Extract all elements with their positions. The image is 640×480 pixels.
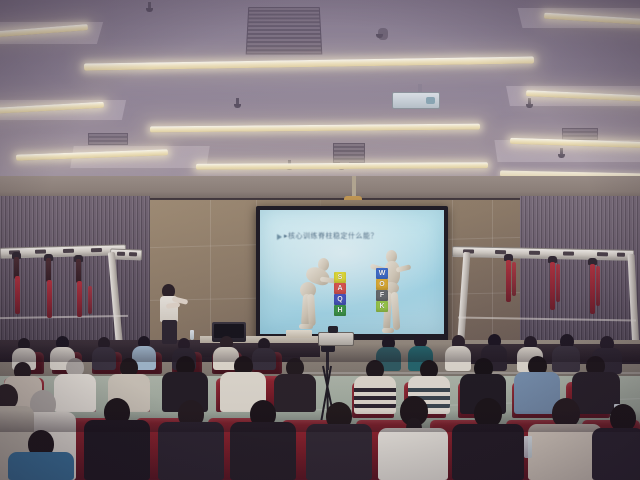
person-body bbox=[378, 428, 448, 480]
rig-slot bbox=[117, 252, 125, 256]
water-bottle bbox=[190, 330, 194, 340]
photo-scene: ▸核心训练脊柱稳定什么能？ S A Q H W bbox=[0, 0, 640, 480]
suspension-strap bbox=[47, 280, 52, 318]
suspension-strap bbox=[77, 281, 82, 317]
ceiling-projector bbox=[392, 92, 440, 109]
sprinkler-head bbox=[528, 98, 531, 106]
figure-leg bbox=[307, 294, 316, 326]
figure-leg bbox=[391, 292, 401, 330]
depth-shadow bbox=[0, 344, 640, 362]
rig-slot bbox=[63, 249, 74, 253]
presenter-legs bbox=[162, 320, 177, 344]
slide-cube: W bbox=[376, 268, 388, 279]
ceiling-vent bbox=[246, 7, 323, 54]
person-stripes bbox=[354, 384, 396, 410]
wall-panel-seam bbox=[492, 200, 493, 350]
rig-slot bbox=[597, 252, 608, 256]
suspension-strap bbox=[506, 260, 511, 302]
person-body bbox=[528, 424, 602, 480]
sprinkler-head bbox=[560, 148, 563, 156]
right-wall-slats bbox=[520, 196, 640, 354]
suspension-strap bbox=[550, 262, 555, 310]
projector-lens bbox=[426, 97, 435, 104]
sprinkler-head bbox=[236, 98, 239, 106]
suspension-strap bbox=[46, 258, 51, 282]
suspension-strap bbox=[76, 259, 81, 283]
ceiling-vent bbox=[88, 133, 128, 145]
ceiling-vent bbox=[562, 128, 598, 140]
rig-slot bbox=[617, 253, 625, 257]
person-body bbox=[8, 452, 74, 480]
ceiling-speaker bbox=[378, 28, 388, 40]
suspension-strap bbox=[596, 266, 600, 306]
suspension-strap bbox=[512, 262, 516, 296]
suspension-strap bbox=[88, 286, 92, 314]
rig-slot bbox=[91, 248, 102, 252]
slide-title: ▸核心训练脊柱稳定什么能？ bbox=[284, 232, 424, 241]
person-body bbox=[306, 424, 372, 480]
figure-foot bbox=[299, 324, 313, 329]
rig-slot bbox=[35, 249, 46, 253]
slide-bullet-icon bbox=[277, 234, 282, 240]
projection-screen: ▸核心训练脊柱稳定什么能？ S A Q H W bbox=[260, 210, 444, 334]
suspension-strap bbox=[556, 264, 560, 302]
person-body bbox=[592, 428, 640, 480]
depth-shadow bbox=[0, 410, 640, 432]
ceiling-vent bbox=[333, 143, 365, 163]
figure-foot bbox=[382, 328, 394, 333]
person-body bbox=[452, 424, 524, 480]
rig-slot bbox=[129, 252, 137, 256]
rig-slot bbox=[529, 251, 540, 255]
slide-cube: A bbox=[334, 283, 346, 294]
slide-cube: O bbox=[376, 279, 388, 290]
camera-viewfinder bbox=[328, 326, 338, 333]
wall-panel-seam bbox=[452, 200, 453, 350]
sprinkler-head bbox=[148, 2, 151, 10]
slide-cube: Q bbox=[334, 294, 346, 305]
rig-slot bbox=[563, 251, 574, 255]
wall-panel-seam bbox=[210, 200, 211, 350]
left-wall-slats bbox=[0, 196, 150, 354]
presenter-laptop bbox=[286, 330, 312, 338]
slide-cube: F bbox=[376, 290, 388, 301]
suspension-strap bbox=[590, 264, 595, 314]
person-body bbox=[274, 374, 316, 412]
slide-cube: S bbox=[334, 272, 346, 283]
suspension-strap bbox=[15, 276, 20, 314]
person-body bbox=[54, 374, 96, 412]
slide-cube: K bbox=[376, 301, 388, 312]
slide-cube: H bbox=[334, 305, 346, 316]
water-bottle bbox=[524, 436, 532, 458]
